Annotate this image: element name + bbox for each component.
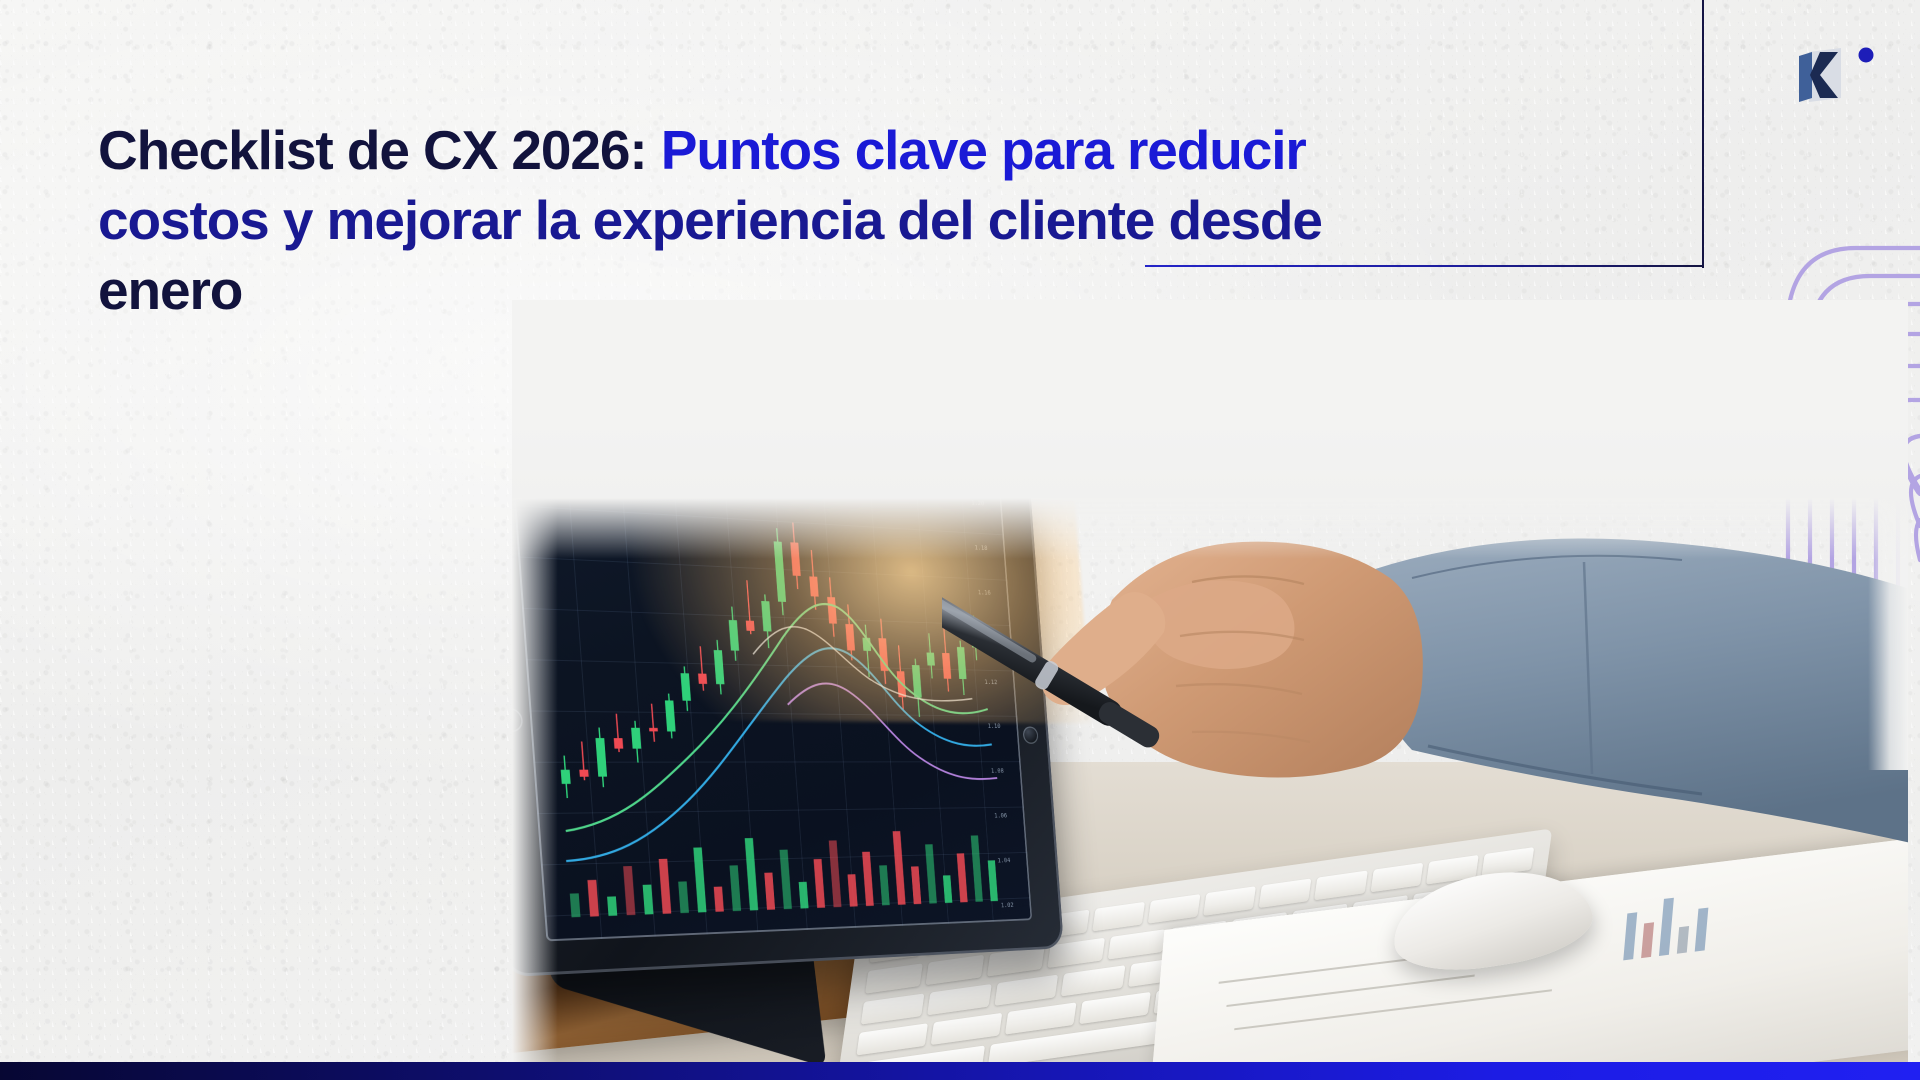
volume-bar [879,865,890,905]
volume-bar [643,885,654,915]
volume-bar [570,893,581,917]
volume-bar [587,880,599,917]
page-title-line-2: costos y mejorar la experiencia del clie… [98,185,1518,255]
hand-with-pen [942,450,1908,920]
candle-body [681,673,691,701]
candle-body [614,738,623,749]
volume-bar [925,844,937,903]
candle-body [927,653,935,666]
k-logo-stem [1799,52,1812,102]
candle-body [746,621,755,631]
candle-body [714,650,725,684]
volume-bar [799,882,809,909]
volume-bar [911,866,921,904]
volume-bar [714,887,724,912]
page-title-segment-blue: Puntos clave para reducir [661,119,1306,181]
candle-body [649,728,658,732]
page-title-segment-dark: Checklist de CX 2026: [98,119,661,181]
volume-bar [745,838,758,910]
candle-body [595,738,607,777]
page-title-line-3: enero [98,255,1518,325]
candle-wick [652,704,655,742]
hero-photo: 1.20 1.18 1.16 1.14 1.12 1.10 1.08 1.06 … [512,300,1908,1062]
candle-body [729,620,739,651]
volume-bar [607,896,617,916]
page-title: Checklist de CX 2026: Puntos clave para … [98,115,1518,325]
candle-body [579,770,588,777]
candle-body [845,624,855,651]
volume-bar [780,850,792,910]
candle-wick [700,646,703,690]
volume-bar [623,866,635,915]
candle-body [827,597,837,624]
bottom-accent-bar [0,1062,1920,1080]
volume-bar [893,831,906,905]
candle-body [665,700,676,731]
candle-body [698,674,707,684]
volume-bar [862,852,874,906]
candle-body [774,541,786,602]
volume-bar [814,859,825,908]
candlestick-series [541,508,990,799]
volume-bar [659,859,672,914]
ma-green-line [548,593,996,831]
candle-body [761,601,771,632]
shirt-sleeve [1370,539,1908,851]
volume-bar [764,873,775,910]
candle-body [561,770,571,784]
candle-body [809,576,818,596]
volume-bar [729,865,741,911]
candle-body [631,728,641,749]
frame-vertical-rule [1702,0,1704,268]
volume-bars [566,829,998,917]
logo-dot-icon [1859,48,1874,63]
hero-photo-inner: 1.20 1.18 1.16 1.14 1.12 1.10 1.08 1.06 … [512,300,1908,1062]
volume-bar [848,874,858,906]
volume-bar [693,847,706,912]
candle-body [790,542,800,576]
brand-logo[interactable] [1792,44,1902,104]
volume-bar [829,840,842,907]
page-title-line-1: Checklist de CX 2026: Puntos clave para … [98,115,1518,185]
volume-bar [678,881,689,913]
